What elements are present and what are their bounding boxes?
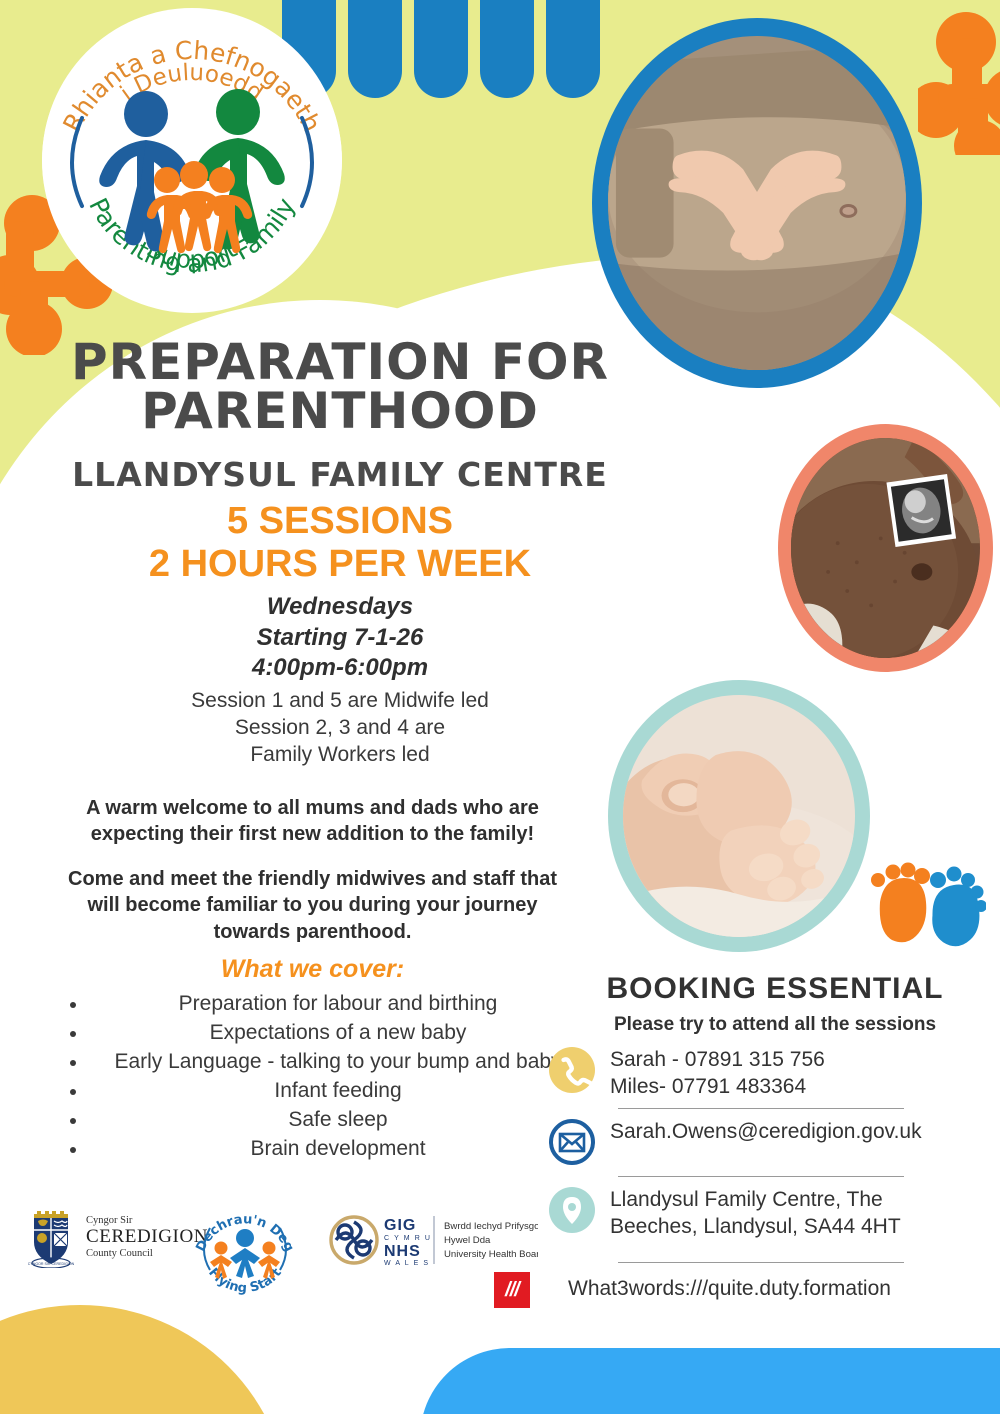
list-item: Brain development [88, 1135, 588, 1164]
schedule-day: Wednesdays [110, 592, 570, 623]
contact-divider-2 [618, 1176, 904, 1177]
ceredigion-county-council-logo: CYNGOR SIR CEREDIGION Cyngor Sir CEREDIG… [28, 1206, 213, 1268]
what3words-address: What3words:///quite.duty.formation [568, 1277, 988, 1301]
health-board-line2: Hywel Dda [444, 1235, 491, 1246]
phone-sarah: Sarah - 07891 315 756 [610, 1046, 825, 1073]
list-item: Early Language - talking to your bump an… [88, 1048, 588, 1077]
poster: Rhianta a Chefnogaeth i Deuluoedd Parent… [0, 0, 1000, 1414]
list-item: Safe sleep [88, 1106, 588, 1135]
map-pin-icon [548, 1186, 596, 1234]
session-leads-line2: Session 2, 3 and 4 are [110, 715, 570, 742]
envelope-icon [548, 1118, 596, 1166]
health-board-line1: Bwrdd Iechyd Prifysgol [444, 1221, 538, 1232]
baby-feet-in-hands-photo [608, 680, 870, 952]
session-leads-line3: Family Workers led [110, 742, 570, 769]
pregnant-belly-ultrasound-photo [778, 424, 993, 672]
blue-panel-decoration [420, 1348, 1000, 1414]
parenting-and-family-support-logo: Rhianta a Chefnogaeth i Deuluoedd Parent… [42, 8, 342, 313]
schedule-start-date: Starting 7-1-26 [110, 623, 570, 654]
page-title-line1: PREPARATION FOR [60, 338, 620, 387]
what3words-icon: /// [494, 1272, 530, 1308]
address-line1: Llandysul Family Centre, The [610, 1186, 901, 1213]
list-item: Preparation for labour and birthing [88, 990, 588, 1019]
sessions-count: 5 SESSIONS [60, 500, 620, 543]
sessions-info: 5 SESSIONS 2 HOURS PER WEEK [60, 500, 620, 585]
schedule-block: Wednesdays Starting 7-1-26 4:00pm-6:00pm [110, 592, 570, 684]
schedule-time: 4:00pm-6:00pm [110, 653, 570, 684]
meet-staff-paragraph: Come and meet the friendly midwives and … [55, 866, 570, 945]
pregnant-belly-heart-hands-photo [592, 18, 922, 388]
list-item: Infant feeding [88, 1077, 588, 1106]
yellow-circle-decoration [0, 1305, 290, 1414]
flying-start-english: Flying Start [205, 1266, 285, 1296]
ceredigion-english-text: County Council [86, 1248, 153, 1259]
phone-numbers: Sarah - 07891 315 756 Miles- 07791 48336… [610, 1046, 825, 1101]
orange-blob-icon [918, 10, 1000, 155]
nhs-gig-text: GIG [384, 1217, 416, 1234]
nhs-wales-text: W A L E S [384, 1260, 430, 1267]
nhs-text: NHS [384, 1243, 421, 1260]
page-title-line2: PARENTHOOD [60, 387, 620, 436]
contact-address-row: Llandysul Family Centre, The Beeches, Ll… [548, 1186, 988, 1241]
nhs-wales-hywel-dda-logo: GIG C Y M R U NHS W A L E S Bwrdd Iechyd… [326, 1212, 538, 1268]
session-leads-line1: Session 1 and 5 are Midwife led [110, 688, 570, 715]
ceredigion-main-text: CEREDIGION [86, 1226, 208, 1247]
what3words-slashes: /// [505, 1279, 519, 1302]
session-leads-block: Session 1 and 5 are Midwife led Session … [110, 688, 570, 769]
topics-list: Preparation for labour and birthing Expe… [60, 990, 588, 1164]
baby-footprints-icon [866, 858, 986, 962]
sessions-duration: 2 HOURS PER WEEK [60, 543, 620, 586]
list-item: Expectations of a new baby [88, 1019, 588, 1048]
welcome-paragraph: A warm welcome to all mums and dads who … [55, 795, 570, 848]
contact-divider-1 [618, 1108, 904, 1109]
ceredigion-welsh-text: Cyngor Sir [86, 1215, 133, 1226]
phone-miles: Miles- 07791 483364 [610, 1073, 825, 1100]
address-line2: Beeches, Llandysul, SA44 4HT [610, 1213, 901, 1240]
svg-text:Flying Start: Flying Start [205, 1266, 285, 1296]
contact-divider-3 [618, 1262, 904, 1263]
phone-icon [548, 1046, 596, 1094]
health-board-line3: University Health Board [444, 1249, 538, 1260]
venue-title: LLANDYSUL FAMILY CENTRE [60, 455, 620, 494]
email-address[interactable]: Sarah.Owens@ceredigion.gov.uk [610, 1118, 922, 1145]
booking-heading: BOOKING ESSENTIAL [560, 972, 990, 1006]
flying-start-logo: Dechrau'n Deg Flying Start [192, 1200, 298, 1296]
page-title: PREPARATION FOR PARENTHOOD [60, 338, 620, 436]
svg-text:CYNGOR SIR CEREDIGION: CYNGOR SIR CEREDIGION [28, 1262, 75, 1266]
contact-phone-row: Sarah - 07891 315 756 Miles- 07791 48336… [548, 1046, 988, 1101]
booking-subtitle: Please try to attend all the sessions [560, 1014, 990, 1036]
nhs-cymru-text: C Y M R U [384, 1235, 432, 1242]
what-we-cover-heading: What we cover: [55, 955, 570, 984]
venue-address: Llandysul Family Centre, The Beeches, Ll… [610, 1186, 901, 1241]
contact-email-row[interactable]: Sarah.Owens@ceredigion.gov.uk [548, 1118, 988, 1166]
